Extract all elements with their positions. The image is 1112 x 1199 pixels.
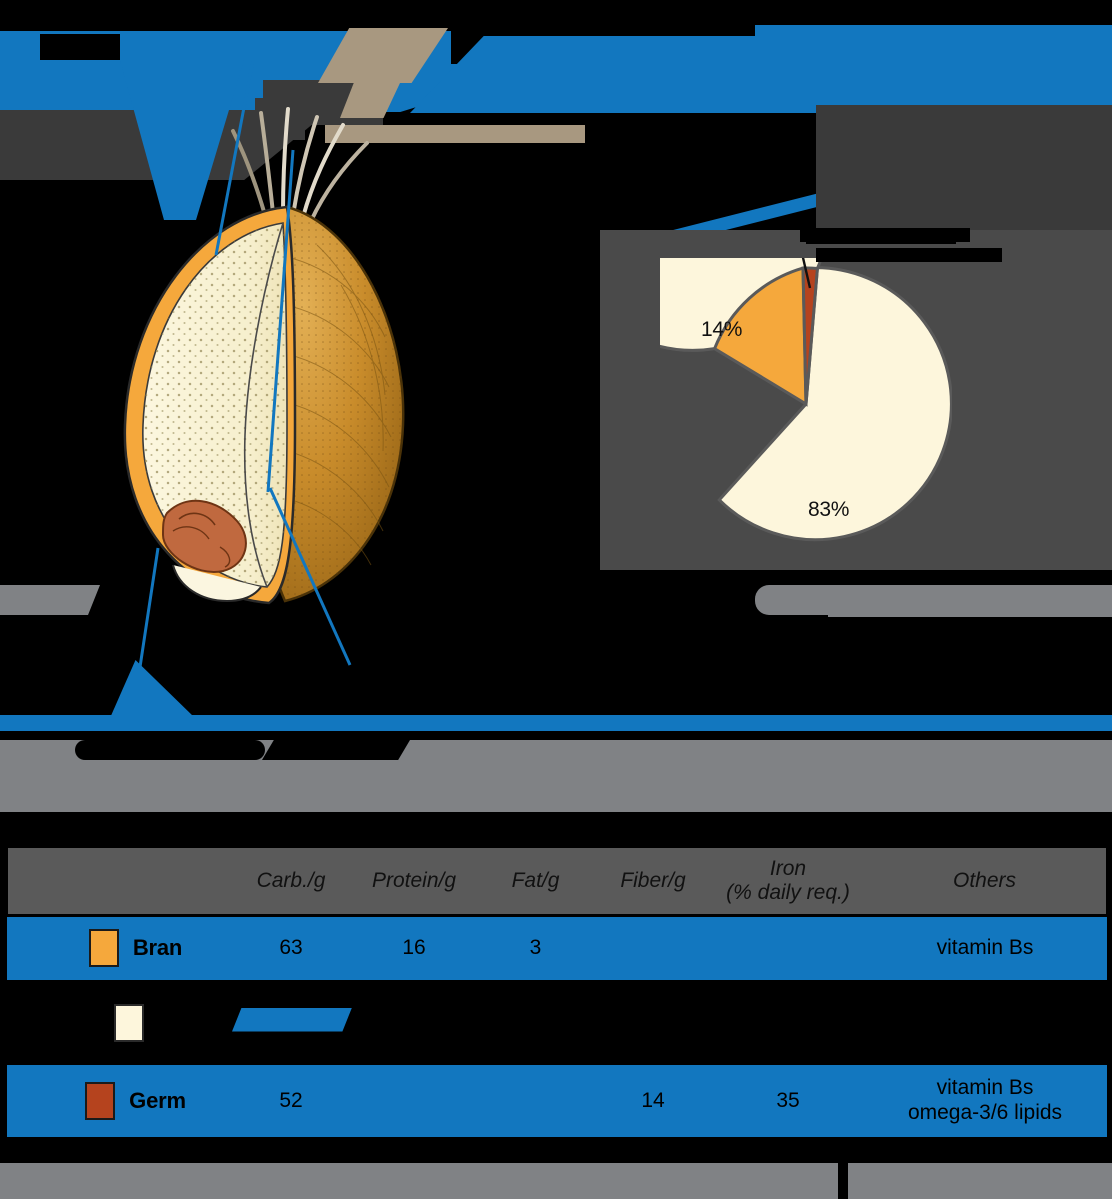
redacted-bottom-caption (0, 1163, 1112, 1199)
pie-label-bran: 14% (701, 318, 742, 342)
table-header-row: Carb./g Protein/g Fat/g Fiber/g Iron (% … (7, 847, 1107, 915)
swatch-endosperm (114, 1004, 144, 1042)
table-spacer-2 (7, 1055, 1107, 1065)
table-cell-germ-protein (350, 1065, 478, 1137)
composition-pie-chart: 14% 83% (660, 258, 952, 550)
table-cell-endosperm-others (863, 990, 1107, 1055)
table-header-carb: Carb./g (232, 847, 350, 915)
swatch-germ (85, 1082, 115, 1120)
table-cell-germ-fat (478, 1065, 593, 1137)
table-header-protein: Protein/g (350, 847, 478, 915)
redacted-scale-block-1 (816, 105, 1112, 233)
nutrition-table: Carb./g Protein/g Fat/g Fiber/g Iron (% … (6, 846, 1108, 1137)
table-header-name (7, 847, 232, 915)
table-header-others: Others (863, 847, 1107, 915)
table-cell-endosperm-carb (232, 990, 350, 1055)
table-cell-germ-others-line2: omega-3/6 lipids (908, 1101, 1062, 1124)
pie-svg (660, 258, 952, 550)
redacted-bottom-wedge (110, 660, 195, 718)
figure-canvas: 14% 83% Carb./g Protein/g Fat/g Fiber/g … (0, 0, 1112, 1199)
table-header-iron-line2: (% daily req.) (726, 881, 850, 904)
table-cell-bran-fiber (593, 915, 713, 980)
table-row-endosperm[interactable] (7, 990, 1107, 1055)
table-cell-bran-iron (713, 915, 863, 980)
table-cell-endosperm-protein (350, 990, 478, 1055)
redacted-title-text-2 (455, 20, 755, 36)
redacted-section-caption-text (75, 740, 265, 760)
table-cell-bran-protein: 16 (350, 915, 478, 980)
table-cell-bran-fat: 3 (478, 915, 593, 980)
redacted-bottom-caption-gap (838, 1163, 848, 1199)
table-cell-germ-others-line1: vitamin Bs (937, 1076, 1034, 1099)
swatch-bran (89, 929, 119, 967)
table-cell-endosperm-name (7, 990, 232, 1055)
table-row-germ[interactable]: Germ 52 14 35 vitamin Bs omega-3/6 lipid… (7, 1065, 1107, 1137)
table-cell-germ-others: vitamin Bs omega-3/6 lipids (863, 1065, 1107, 1137)
table-header-fat: Fat/g (478, 847, 593, 915)
grain-bristles (233, 109, 367, 221)
redacted-caption-right-2 (828, 601, 1112, 617)
table-row-label-germ: Germ (129, 1088, 186, 1114)
redacted-caption-left (0, 585, 100, 615)
table-spacer-1 (7, 980, 1107, 990)
redacted-title-text-1 (40, 34, 120, 60)
redacted-pie-germ-label-2 (816, 248, 1002, 262)
table-cell-germ-fiber: 14 (593, 1065, 713, 1137)
table-cell-endosperm-fiber (593, 990, 713, 1055)
table-cell-endosperm-iron (713, 990, 863, 1055)
table-header-iron: Iron (% daily req.) (713, 847, 863, 915)
wheat-grain-diagram (55, 95, 435, 615)
table-cell-endosperm-fat (478, 990, 593, 1055)
pie-label-endosperm: 83% (808, 498, 849, 522)
table-row-label-bran: Bran (133, 935, 182, 961)
wheat-grain-svg (55, 95, 435, 615)
redacted-title-block-3 (410, 25, 1112, 113)
redacted-section-caption-text-2 (262, 740, 410, 760)
redacted-endosperm-carb (232, 1008, 352, 1032)
table-header-iron-line1: Iron (770, 857, 806, 880)
table-cell-germ-carb: 52 (232, 1065, 350, 1137)
table-cell-germ-iron: 35 (713, 1065, 863, 1137)
redacted-pie-germ-label (806, 228, 956, 244)
table-row-bran[interactable]: Bran 63 16 3 vitamin Bs (7, 915, 1107, 980)
table-cell-bran-others: vitamin Bs (863, 915, 1107, 980)
table-cell-bran-name: Bran (7, 915, 232, 980)
table-header-fiber: Fiber/g (593, 847, 713, 915)
table-cell-bran-carb: 63 (232, 915, 350, 980)
table-cell-germ-name: Germ (7, 1065, 232, 1137)
